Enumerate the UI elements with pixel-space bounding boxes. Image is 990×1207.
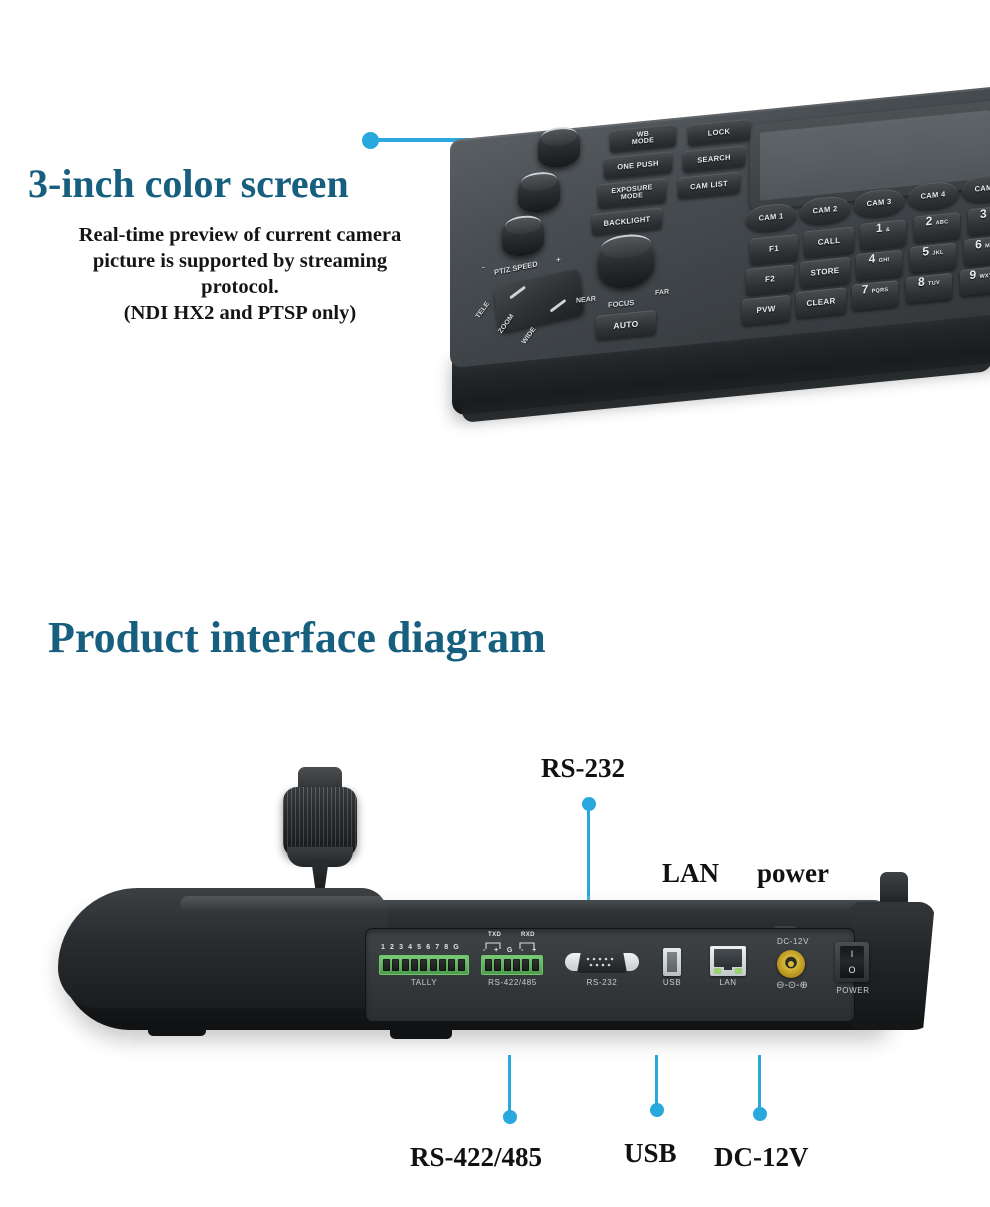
ptz-speed-minus-label: - xyxy=(482,263,485,272)
lan-port[interactable] xyxy=(710,946,746,976)
interface-title: Product interface diagram xyxy=(48,612,546,663)
controller-top-image: PT/Z SPEED - + TELE ZOOM WIDE WB MODE ON… xyxy=(440,95,990,400)
key-digit-9-digit: 9 xyxy=(969,268,976,281)
tilt-speed-knob[interactable] xyxy=(518,172,560,214)
callout-label-usb: USB xyxy=(624,1138,677,1169)
rear-foot-center xyxy=(390,1026,452,1039)
tally-label: TALLY xyxy=(379,978,469,987)
key-digit-1[interactable]: 1 & xyxy=(860,219,906,250)
focus-near-label: NEAR xyxy=(576,296,596,305)
power-switch-off-mark: O xyxy=(848,965,855,975)
focus-far-label: FAR xyxy=(655,289,669,297)
ptz-speed-plus-label: + xyxy=(556,255,561,264)
key-digit-3[interactable]: 3 DEF xyxy=(968,205,990,236)
key-digit-9-letters: WXYZ xyxy=(979,273,990,280)
lan-led-right xyxy=(735,968,742,974)
key-digit-1-digit: 1 xyxy=(876,222,883,235)
feature-description-line-1: Real-time preview of current camera xyxy=(10,222,470,248)
key-digit-5[interactable]: 5 JKL xyxy=(910,242,956,273)
rear-foot-left xyxy=(148,1022,206,1036)
rs232-pins xyxy=(577,951,627,973)
key-exposure-mode[interactable]: EXPOSURE MODE xyxy=(598,178,666,209)
usb-port[interactable] xyxy=(663,948,681,976)
rs232-label: RS-232 xyxy=(565,978,639,987)
feature-description-line-4: (NDI HX2 and PTSP only) xyxy=(10,300,470,326)
lan-label: LAN xyxy=(703,978,753,987)
key-digit-5-digit: 5 xyxy=(922,245,929,258)
key-auto[interactable]: AUTO xyxy=(596,310,656,340)
controller-rear-image: 1 2 3 4 5 6 7 8 G TALLY TXD RXD - + G - … xyxy=(60,760,940,1080)
key-search[interactable]: SEARCH xyxy=(683,145,745,172)
focus-knob[interactable] xyxy=(598,235,654,290)
rs422485-bracket-txd: TXD xyxy=(488,932,501,938)
key-digit-2-digit: 2 xyxy=(926,215,933,228)
key-store[interactable]: STORE xyxy=(800,257,850,288)
callout-dot-dc12v xyxy=(753,1107,767,1121)
key-digit-6-digit: 6 xyxy=(975,238,982,251)
key-backlight[interactable]: BACKLIGHT xyxy=(592,207,662,235)
dc12v-polarity-symbol: ⊖-⊙-⊕ xyxy=(763,980,821,991)
rs232-port[interactable] xyxy=(565,950,639,974)
key-call[interactable]: CALL xyxy=(804,226,854,257)
usb-label: USB xyxy=(655,978,689,987)
feature-description: Real-time preview of current camera pict… xyxy=(10,222,470,326)
power-switch[interactable]: I O xyxy=(835,942,869,982)
power-switch-rocker: I O xyxy=(840,946,864,978)
key-f2[interactable]: F2 xyxy=(746,264,794,295)
key-digit-4-digit: 4 xyxy=(869,252,876,265)
callout-dot-rs422485 xyxy=(503,1110,517,1124)
zoom-speed-knob-cap xyxy=(505,214,542,236)
key-cam-list[interactable]: CAM LIST xyxy=(678,172,740,199)
power-label: POWER xyxy=(827,986,879,995)
zoom-rocker-tele-label: TELE xyxy=(475,301,492,320)
dc12v-port-pin xyxy=(788,961,794,967)
key-digit-6-letters: MNO xyxy=(985,243,990,250)
usb-port-slot xyxy=(667,952,677,972)
key-digit-4-letters: GHI xyxy=(879,258,890,265)
zoom-speed-knob[interactable] xyxy=(502,216,544,258)
callout-label-rs422485: RS-422/485 xyxy=(410,1142,542,1173)
io-panel: 1 2 3 4 5 6 7 8 G TALLY TXD RXD - + G - … xyxy=(365,928,855,1022)
tilt-speed-knob-cap xyxy=(521,170,558,192)
callout-dot-usb xyxy=(650,1103,664,1117)
rs422485-label: RS-422/485 xyxy=(475,978,550,987)
key-digit-5-letters: JKL xyxy=(932,251,943,258)
callout-label-dc12v: DC-12V xyxy=(714,1142,809,1173)
tally-pin-labels: 1 2 3 4 5 6 7 8 G xyxy=(381,944,460,951)
key-digit-8[interactable]: 8 TUV xyxy=(906,273,952,304)
key-digit-8-digit: 8 xyxy=(918,275,925,288)
dc12v-top-label: DC-12V xyxy=(765,937,821,946)
key-digit-7-letters: PQRS xyxy=(872,288,889,295)
key-digit-7[interactable]: 7 PQRS xyxy=(852,280,898,311)
pan-speed-knob[interactable] xyxy=(538,127,580,169)
lan-port-latch xyxy=(724,964,732,970)
zoom-rocker-ridge-wide xyxy=(550,299,567,313)
rs422485-terminal[interactable] xyxy=(481,955,543,975)
feature-description-line-3: protocol. xyxy=(10,274,470,300)
key-digit-2-letters: ABC xyxy=(936,220,949,227)
key-digit-9[interactable]: 9 WXYZ xyxy=(960,266,990,297)
power-switch-on-mark: I xyxy=(851,949,854,959)
page-root: 3-inch color screen Real-time preview of… xyxy=(0,0,990,1207)
focus-knob-cap xyxy=(601,232,650,260)
key-pvw[interactable]: PVW xyxy=(742,295,790,326)
key-digit-3-digit: 3 xyxy=(980,207,987,220)
tally-terminal[interactable] xyxy=(379,955,469,975)
pan-speed-knob-cap xyxy=(541,125,578,147)
lan-led-left xyxy=(714,968,721,974)
zoom-rocker-ridge-tele xyxy=(509,286,526,300)
rs422485-bracket-rxd: RXD xyxy=(521,932,535,938)
callout-line-rs422485 xyxy=(508,1055,511,1115)
key-digit-7-digit: 7 xyxy=(862,283,869,296)
feature-title: 3-inch color screen xyxy=(28,160,349,207)
key-digit-2[interactable]: 2 ABC xyxy=(914,212,960,243)
zoom-rocker-wide-label: WIDE xyxy=(521,326,538,345)
key-wb-mode[interactable]: WB MODE xyxy=(610,124,676,152)
focus-label: FOCUS xyxy=(608,298,634,310)
key-digit-1-letters: & xyxy=(886,228,890,234)
key-one-push[interactable]: ONE PUSH xyxy=(604,151,672,179)
ptz-speed-label: PT/Z SPEED xyxy=(494,259,538,277)
key-f1[interactable]: F1 xyxy=(750,234,798,265)
key-digit-4[interactable]: 4 GHI xyxy=(856,250,902,281)
controller-rear-top-highlight xyxy=(180,896,880,912)
key-digit-8-letters: TUV xyxy=(928,281,940,288)
callout-line-usb xyxy=(655,1055,658,1107)
rs422485-pin-labels: - + G - + xyxy=(483,947,540,954)
key-digit-6[interactable]: 6 MNO xyxy=(964,235,990,266)
key-clear[interactable]: CLEAR xyxy=(796,287,846,318)
feature-description-line-2: picture is supported by streaming xyxy=(10,248,470,274)
key-lock[interactable]: LOCK xyxy=(688,119,750,146)
dc12v-port[interactable] xyxy=(777,950,805,978)
callout-line-dc12v xyxy=(758,1055,761,1111)
